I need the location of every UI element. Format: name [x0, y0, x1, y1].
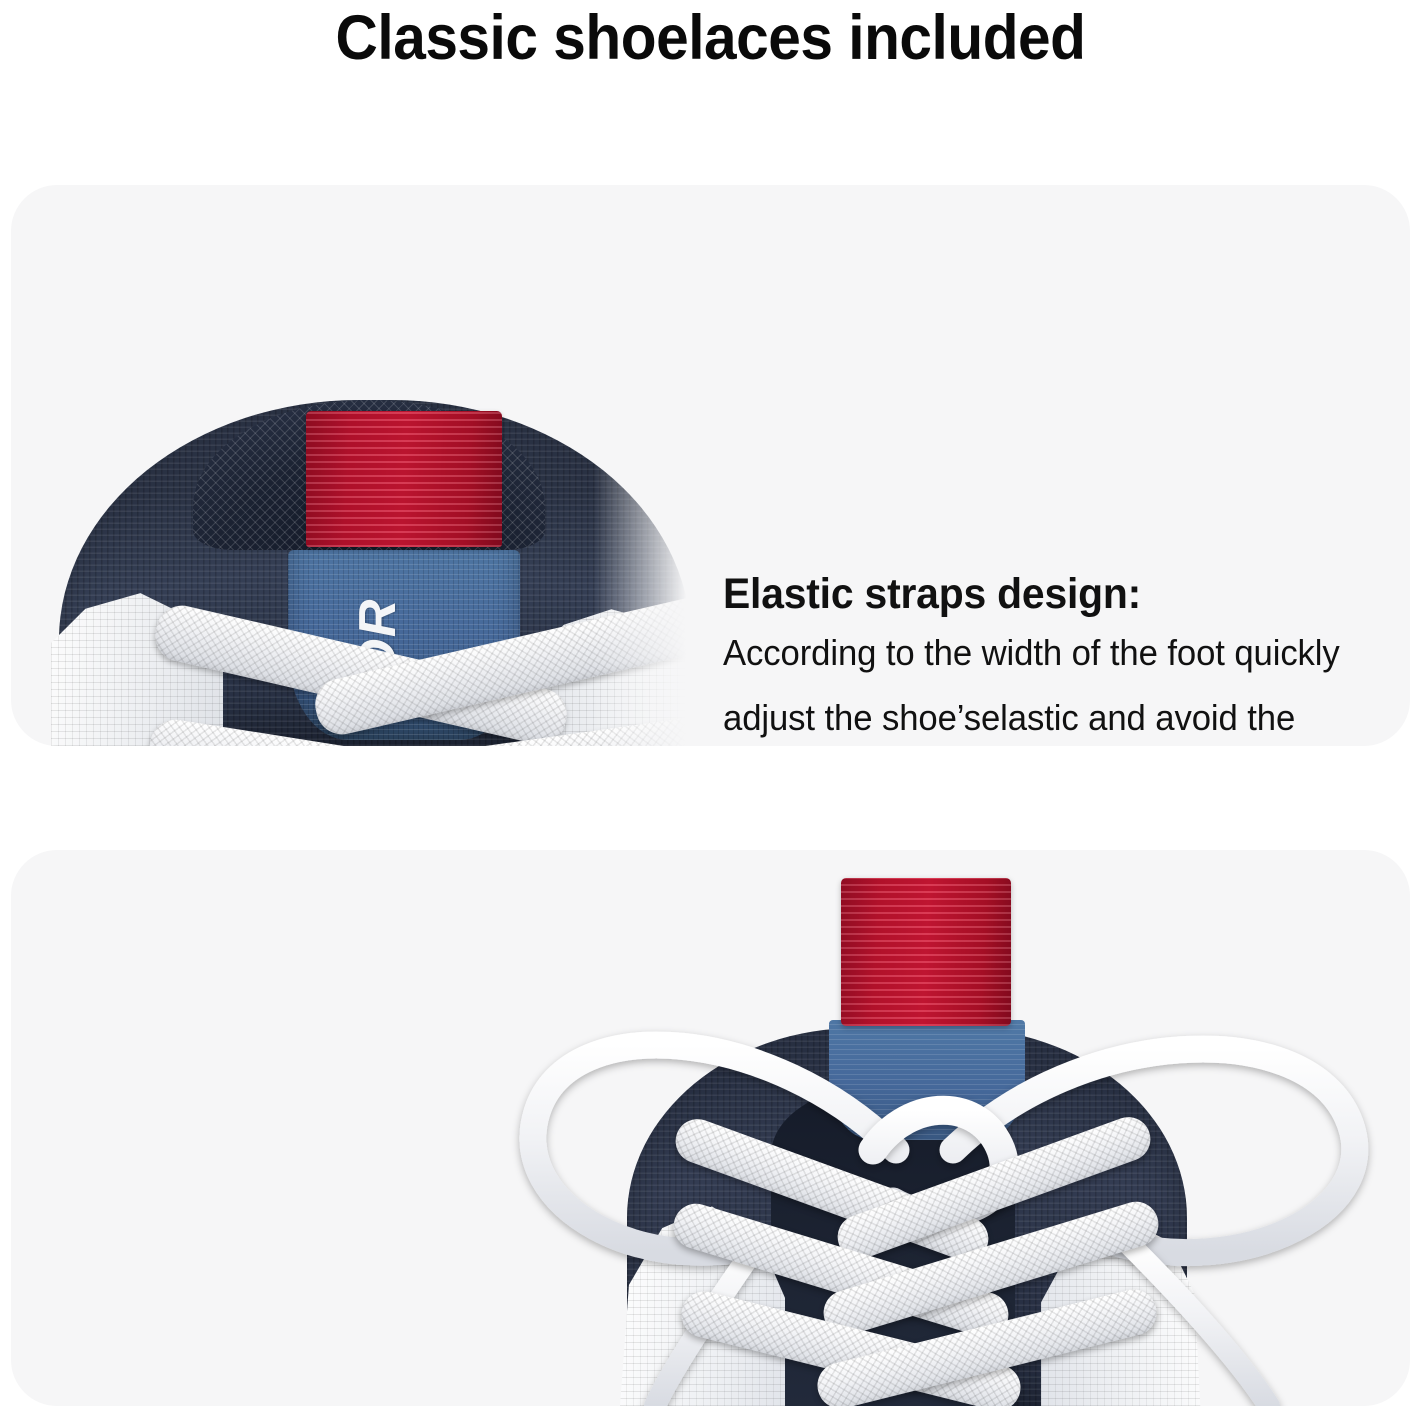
feature-panel-lace-up: A classic lace-up design: Comes with an …	[11, 850, 1410, 1406]
elastic-straps-body: According to the width of the foot quick…	[723, 620, 1410, 746]
sneaker-with-tied-shoelaces-photo	[441, 850, 1410, 1406]
photo-edge-fade	[593, 185, 723, 746]
sneaker-with-elastic-straps-photo: JOR	[11, 185, 723, 746]
heel-tab-webbing	[306, 411, 502, 547]
feature-panel-elastic-straps: JOR Elastic straps design: According to …	[11, 185, 1410, 746]
photo-edge-fade	[441, 850, 511, 1406]
elastic-straps-heading: Elastic straps design:	[723, 568, 1394, 620]
page-title: Classic shoelaces included	[50, 2, 1372, 74]
elastic-straps-copy: Elastic straps design: According to the …	[723, 568, 1410, 746]
shoelace-bow	[441, 850, 1410, 1406]
